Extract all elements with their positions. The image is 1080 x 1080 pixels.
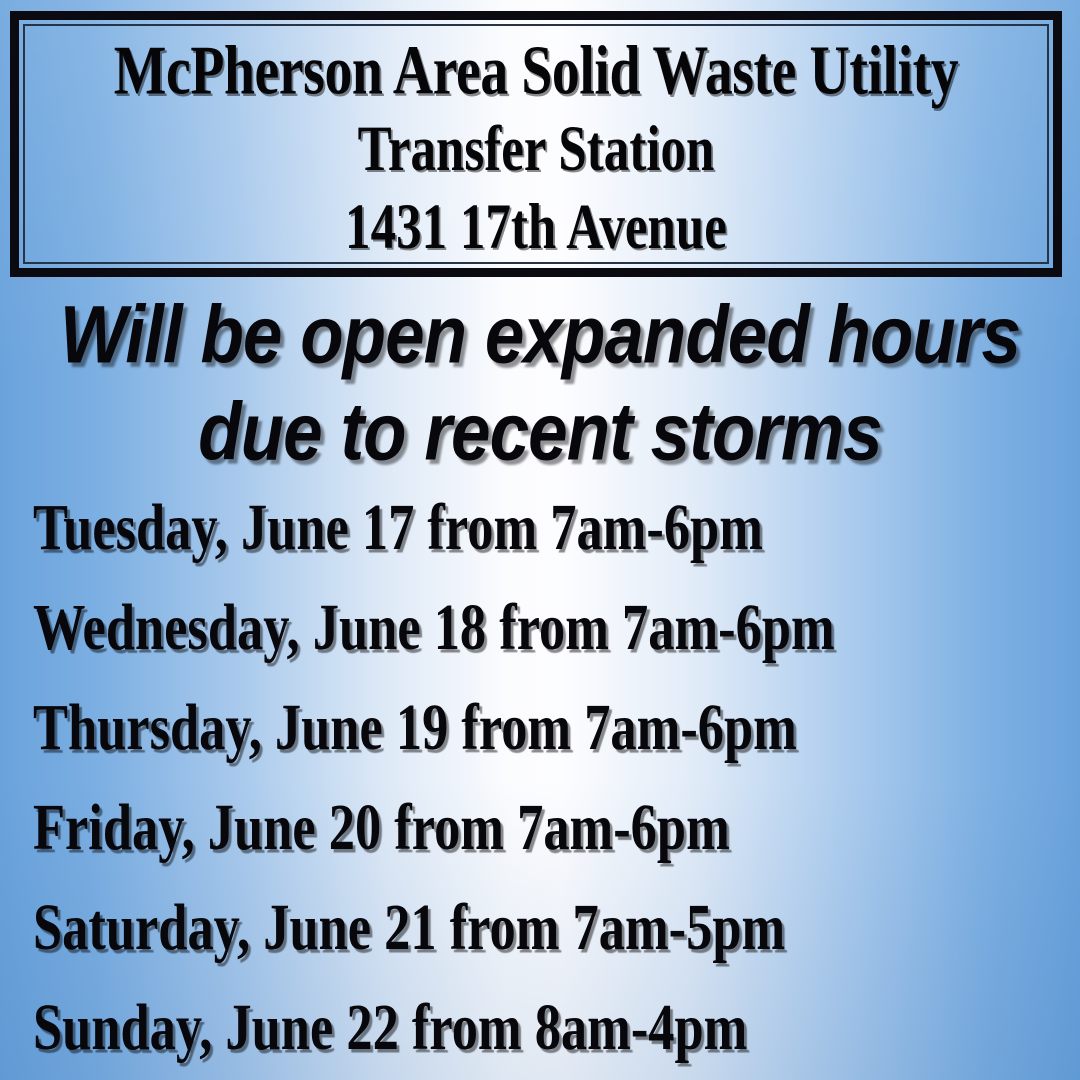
header-frame-inner: McPherson Area Solid Waste Utility Trans…: [23, 24, 1049, 264]
organization-name: McPherson Area Solid Waste Utility: [76, 36, 996, 106]
poster-canvas: McPherson Area Solid Waste Utility Trans…: [0, 0, 1080, 1080]
headline-line-1: Will be open expanded hours: [22, 281, 1059, 388]
schedule-row-tuesday: Tuesday, June 17 from 7am-6pm: [33, 478, 1053, 578]
headline: Will be open expanded hours due to recen…: [0, 286, 1080, 480]
schedule-row-text: Friday, June 20 from 7am-6pm: [33, 770, 730, 886]
schedule-row-text: Sunday, June 22 from 8am-4pm: [33, 970, 747, 1080]
schedule-list: Tuesday, June 17 from 7am-6pm Wednesday,…: [33, 478, 1053, 1078]
facility-address: 1431 17th Avenue: [86, 194, 985, 259]
schedule-row-text: Thursday, June 19 from 7am-6pm: [33, 670, 797, 786]
schedule-row-sunday: Sunday, June 22 from 8am-4pm: [33, 978, 1053, 1078]
schedule-row-text: Tuesday, June 17 from 7am-6pm: [33, 470, 763, 586]
facility-name: Transfer Station: [86, 116, 985, 181]
schedule-row-text: Saturday, June 21 from 7am-5pm: [33, 870, 785, 986]
schedule-row-wednesday: Wednesday, June 18 from 7am-6pm: [33, 578, 1053, 678]
header-frame: McPherson Area Solid Waste Utility Trans…: [10, 11, 1062, 277]
schedule-row-saturday: Saturday, June 21 from 7am-5pm: [33, 878, 1053, 978]
schedule-row-friday: Friday, June 20 from 7am-6pm: [33, 778, 1053, 878]
schedule-row-text: Wednesday, June 18 from 7am-6pm: [33, 570, 835, 686]
schedule-row-thursday: Thursday, June 19 from 7am-6pm: [33, 678, 1053, 778]
headline-line-2: due to recent storms: [22, 378, 1059, 485]
